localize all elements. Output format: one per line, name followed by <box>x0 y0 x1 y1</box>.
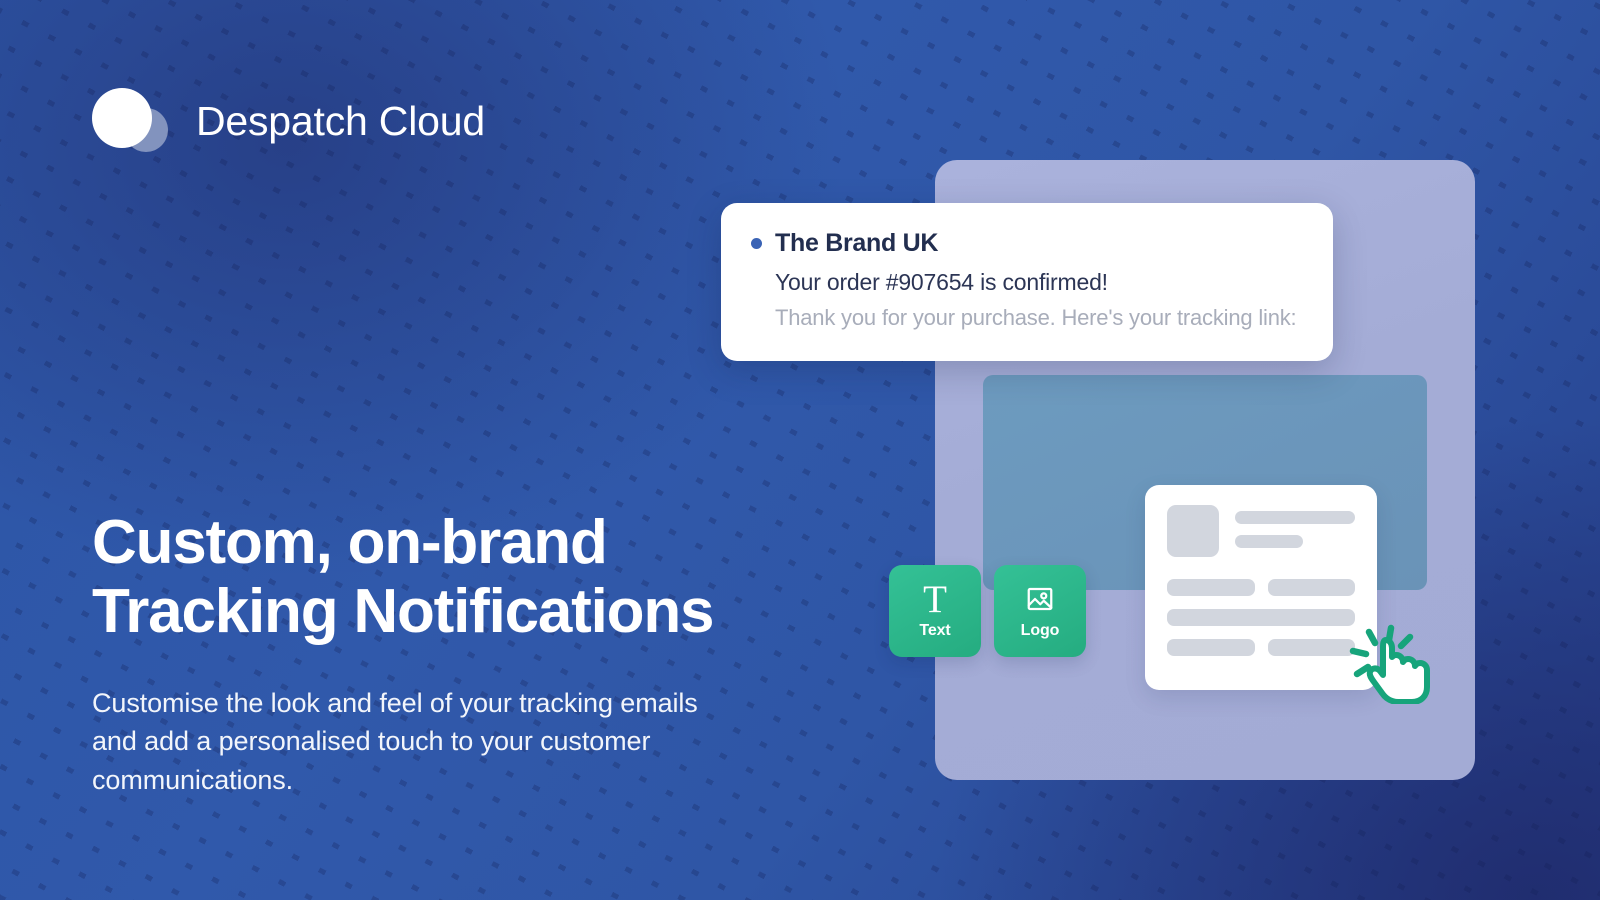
card-body-rows <box>1167 579 1355 656</box>
card-thumbnail-placeholder <box>1167 505 1219 557</box>
skeleton-bar <box>1235 511 1355 524</box>
page-title: Custom, on-brand Tracking Notifications <box>92 508 713 647</box>
skeleton-row <box>1167 579 1355 596</box>
image-icon <box>1023 582 1057 616</box>
tool-chip-text-label: Text <box>919 622 950 640</box>
pointing-hand-click-icon <box>1342 618 1434 704</box>
skeleton-bar <box>1235 535 1303 548</box>
skeleton-bar <box>1167 609 1355 626</box>
marketing-banner: Despatch Cloud Custom, on-brand Tracking… <box>0 0 1600 900</box>
notification-card: The Brand UK Your order #907654 is confi… <box>721 203 1333 361</box>
notification-brand-name: The Brand UK <box>775 229 938 258</box>
brand-wordmark: Despatch Cloud <box>196 98 485 145</box>
notification-order-line: Your order #907654 is confirmed! <box>775 269 1303 296</box>
status-dot-icon <box>751 238 762 249</box>
text-glyph-icon: T <box>918 582 952 616</box>
notification-thanks-line: Thank you for your purchase. Here's your… <box>775 305 1303 331</box>
skeleton-row <box>1167 609 1355 626</box>
brand-logo-lockup: Despatch Cloud <box>92 88 485 154</box>
tool-chip-text[interactable]: T Text <box>889 565 981 657</box>
skeleton-row <box>1167 639 1355 656</box>
page-subtitle: Customise the look and feel of your trac… <box>92 684 732 799</box>
editor-illustration: The Brand UK Your order #907654 is confi… <box>880 150 1500 790</box>
logo-circle-small <box>124 108 168 152</box>
tool-chip-logo-label: Logo <box>1021 622 1060 640</box>
text-glyph-letter: T <box>923 580 947 619</box>
tool-chip-logo[interactable]: Logo <box>994 565 1086 657</box>
skeleton-bar <box>1167 579 1255 596</box>
notification-header: The Brand UK <box>751 229 1303 258</box>
skeleton-bar <box>1268 579 1356 596</box>
two-circles-logo-icon <box>92 88 170 154</box>
skeleton-bar <box>1167 639 1255 656</box>
card-header-row <box>1167 505 1355 557</box>
card-header-lines <box>1235 505 1355 557</box>
